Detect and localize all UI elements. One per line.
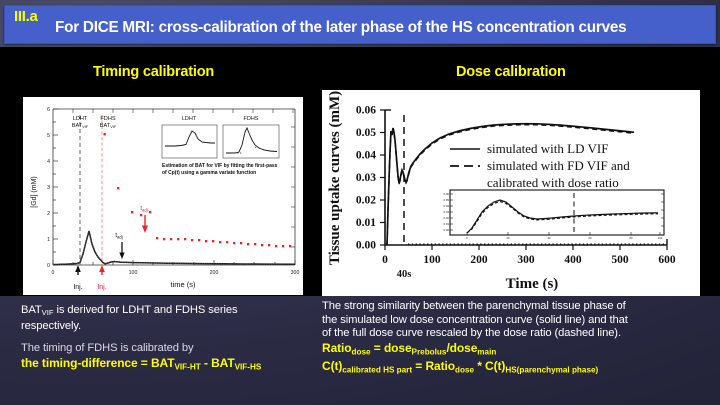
svg-text:300: 300	[517, 254, 535, 266]
svg-text:100: 100	[129, 270, 138, 276]
dose-chart-svg: 0.00 0.01 0.02 0.03 0.04 0.05 0.06 0 100…	[322, 90, 700, 296]
svg-text:6: 6	[47, 107, 50, 113]
svg-text:0.01: 0.01	[356, 217, 376, 229]
timing-chart-svg: 0 1 2 3 4 5 6 0 100 200 300 [Gd] (mM) ti…	[23, 97, 303, 295]
formula-right2-a: C(t)	[322, 359, 342, 373]
svg-text:BATVIF: BATVIF	[72, 123, 89, 129]
svg-text:0: 0	[47, 263, 50, 269]
timing-caption-block: BATVIF is derived for LDHT and FDHS seri…	[21, 304, 311, 374]
slide-title-bar: III.a For DICE MRI: cross-calibration of…	[4, 5, 716, 44]
svg-text:tadj: tadj	[115, 233, 122, 239]
caption-left-line1-b: is derived for LDHT and FDHS series	[53, 304, 237, 316]
svg-text:LDHT: LDHT	[73, 116, 88, 122]
svg-text:0.02: 0.02	[356, 195, 376, 207]
svg-text:5: 5	[47, 133, 50, 139]
dose-caption-block: The strong similarity between the parenc…	[322, 300, 714, 377]
caption-right-line1: The strong similarity between the parenc…	[322, 300, 714, 314]
caption-left-spacer	[21, 333, 311, 342]
formula-right1-sub3: main	[477, 347, 496, 356]
formula-left-sub1: VIF-HT	[174, 362, 200, 371]
legend-item-fd-vif: simulated with FD VIF and	[487, 158, 630, 173]
svg-text:200: 200	[210, 270, 219, 276]
formula-right1-sub1: dose	[352, 347, 371, 356]
section-tag: III.a	[14, 8, 38, 25]
formula-right1-a: Ratio	[322, 341, 352, 355]
svg-text:0.05: 0.05	[356, 127, 376, 139]
formula-right2-sub3: HS(parenchymal phase)	[505, 365, 598, 374]
svg-text:0.05: 0.05	[444, 198, 450, 202]
svg-text:400: 400	[564, 254, 582, 266]
caption-left-line1-a: BAT	[21, 304, 42, 316]
svg-text:500: 500	[611, 254, 629, 266]
svg-text:0.03: 0.03	[444, 210, 450, 214]
svg-text:Inj.: Inj.	[97, 284, 106, 291]
inset-label-ldht: LDHT	[182, 116, 197, 122]
caption-right-line3: of the full dose curve rescaled by the d…	[322, 327, 714, 341]
caption-right-formula2: C(t)calibrated HS part = Ratiodose * C(t…	[322, 359, 714, 377]
svg-text:40: 40	[547, 236, 551, 240]
svg-text:0.03: 0.03	[356, 172, 376, 184]
heading-timing-calibration: Timing calibration	[93, 64, 214, 80]
svg-text:0.02: 0.02	[444, 216, 450, 220]
svg-text:200: 200	[470, 254, 488, 266]
caption-left-line1: BATVIF is derived for LDHT and FDHS seri…	[21, 304, 311, 320]
svg-text:0.04: 0.04	[444, 204, 450, 208]
svg-text:4: 4	[47, 159, 50, 165]
formula-left-b: - BAT	[201, 356, 235, 370]
svg-text:0.06: 0.06	[444, 192, 450, 196]
svg-text:0: 0	[52, 270, 55, 276]
inset-label-fdhs: FDHS	[244, 116, 259, 122]
timing-ylabel: [Gd] (mM)	[31, 176, 38, 208]
dose-inset: 0.06 0.05 0.04 0.03 0.02 0.01 0.00 0 20 …	[444, 190, 664, 240]
timing-calibration-chart: 0 1 2 3 4 5 6 0 100 200 300 [Gd] (mM) ti…	[23, 97, 303, 295]
svg-text:0.06: 0.06	[356, 105, 376, 117]
svg-text:600: 600	[658, 254, 676, 266]
svg-text:20: 20	[506, 236, 510, 240]
svg-text:300: 300	[291, 270, 300, 276]
svg-text:100: 100	[658, 236, 663, 240]
svg-text:FDHS: FDHS	[100, 116, 115, 122]
svg-text:0.04: 0.04	[356, 150, 376, 162]
caption-left-line3: The timing of FDHS is calibrated by	[21, 342, 311, 356]
formula-right1-c: /dose	[446, 341, 477, 355]
caption-left-formula: the timing-difference = BATVIF-HT - BATV…	[21, 356, 311, 374]
svg-text:2: 2	[47, 211, 50, 217]
page-title: For DICE MRI: cross-calibration of the l…	[55, 19, 710, 37]
legend-item-fd-vif-cont: calibrated with dose ratio	[487, 175, 619, 190]
caption-right-formula1: Ratiodose = dosePrebolus/dosemain	[322, 341, 714, 359]
dose-calibration-chart: 0.00 0.01 0.02 0.03 0.04 0.05 0.06 0 100…	[322, 90, 700, 296]
inset-caption-line2: of Cp(t) using a gamma variate function	[162, 170, 256, 176]
legend-item-ld-vif: simulated with LD VIF	[487, 141, 608, 156]
formula-right1-sub2: Prebolus	[412, 347, 447, 356]
svg-text:1: 1	[47, 237, 50, 243]
svg-text:BATVIF: BATVIF	[100, 123, 117, 129]
formula-right2-sub2: dose	[455, 365, 474, 374]
svg-text:0.00: 0.00	[444, 228, 450, 232]
formula-right2-sub1: calibrated HS part	[342, 365, 412, 374]
caption-right-line2: the simulated low dose concentration cur…	[322, 314, 714, 328]
svg-text:80: 80	[629, 236, 633, 240]
svg-text:Inj.: Inj.	[73, 284, 82, 291]
svg-text:0.00: 0.00	[356, 240, 376, 252]
svg-text:3: 3	[47, 185, 50, 191]
dose-xlabel: Time (s)	[506, 276, 559, 292]
formula-left-a: the timing-difference = BAT	[21, 356, 174, 370]
svg-text:0.01: 0.01	[444, 222, 450, 226]
svg-text:100: 100	[423, 254, 441, 266]
formula-right1-b: = dose	[371, 341, 412, 355]
caption-left-line1-sub: VIF	[42, 308, 54, 317]
formula-left-sub2: VIF-HS	[235, 362, 262, 371]
inset-caption-line1: Estimation of BAT for VIF by fitting the…	[162, 163, 278, 169]
forty-second-label: 40s	[397, 269, 412, 280]
slide-canvas: III.a For DICE MRI: cross-calibration of…	[0, 0, 720, 405]
timing-xlabel: time (s)	[171, 280, 197, 289]
dose-ylabel: Tissue uptake curves (mM)	[327, 91, 343, 265]
formula-right2-b: = Ratio	[412, 359, 455, 373]
svg-text:60: 60	[588, 236, 592, 240]
heading-dose-calibration: Dose calibration	[456, 64, 566, 80]
caption-left-line2: respectively.	[21, 320, 311, 334]
svg-text:tadj: tadj	[140, 206, 147, 212]
svg-text:0: 0	[382, 254, 388, 266]
formula-right2-c: * C(t)	[474, 359, 505, 373]
